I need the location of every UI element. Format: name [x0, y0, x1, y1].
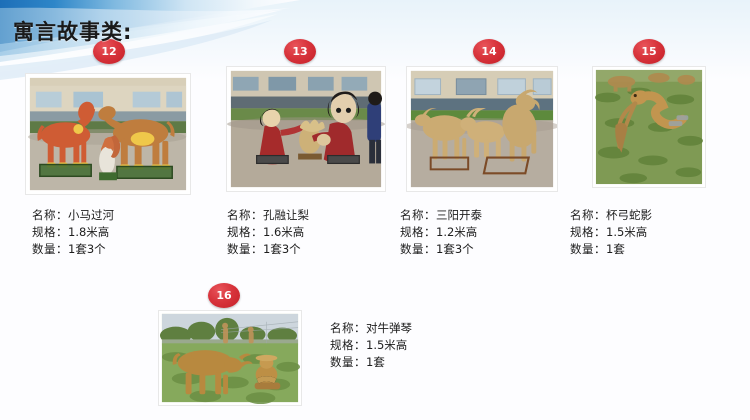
photo-13-graphic: [227, 67, 385, 191]
badge-item-14: 14: [473, 39, 505, 64]
spec-label-16: 规格：: [330, 338, 366, 352]
photo-14-graphic: [407, 67, 557, 191]
spec-label-14: 规格：: [400, 225, 436, 239]
spec-label-12: 规格：: [32, 225, 68, 239]
caption-qty-row-13: 数量：1套3个: [227, 241, 309, 258]
photo-item-14[interactable]: [406, 66, 558, 192]
name-value-16: 对牛弹琴: [366, 321, 412, 335]
caption-item-15: 名称：杯弓蛇影 规格：1.5米高 数量：1套: [570, 207, 652, 258]
caption-spec-row-14: 规格：1.2米高: [400, 224, 482, 241]
caption-spec-row-12: 规格：1.8米高: [32, 224, 114, 241]
photo-item-13[interactable]: [226, 66, 386, 192]
qty-value-12: 1套3个: [68, 242, 106, 256]
name-value-14: 三阳开泰: [436, 208, 482, 222]
qty-label-13: 数量：: [227, 242, 263, 256]
spec-value-16: 1.5米高: [366, 338, 407, 352]
qty-value-16: 1套: [366, 355, 385, 369]
name-value-15: 杯弓蛇影: [606, 208, 652, 222]
name-label-12: 名称：: [32, 208, 68, 222]
badge-item-16: 16: [208, 283, 240, 308]
name-value-12: 小马过河: [68, 208, 114, 222]
photo-item-12[interactable]: [25, 73, 191, 195]
qty-value-15: 1套: [606, 242, 625, 256]
qty-label-12: 数量：: [32, 242, 68, 256]
caption-spec-row-16: 规格：1.5米高: [330, 337, 412, 354]
page-title: 寓言故事类:: [13, 16, 132, 46]
caption-item-12: 名称：小马过河 规格：1.8米高 数量：1套3个: [32, 207, 114, 258]
badge-item-13: 13: [284, 39, 316, 64]
photo-16-graphic: [159, 311, 301, 405]
caption-name-row-15: 名称：杯弓蛇影: [570, 207, 652, 224]
caption-qty-row-15: 数量：1套: [570, 241, 652, 258]
spec-value-14: 1.2米高: [436, 225, 477, 239]
qty-label-15: 数量：: [570, 242, 606, 256]
spec-label-13: 规格：: [227, 225, 263, 239]
name-label-13: 名称：: [227, 208, 263, 222]
slide-canvas: 寓言故事类:: [0, 0, 750, 420]
name-label-15: 名称：: [570, 208, 606, 222]
caption-name-row-14: 名称：三阳开泰: [400, 207, 482, 224]
caption-name-row-16: 名称：对牛弹琴: [330, 320, 412, 337]
qty-value-13: 1套3个: [263, 242, 301, 256]
caption-name-row-13: 名称：孔融让梨: [227, 207, 309, 224]
photo-item-16[interactable]: [158, 310, 302, 406]
spec-label-15: 规格：: [570, 225, 606, 239]
qty-value-14: 1套3个: [436, 242, 474, 256]
caption-name-row-12: 名称：小马过河: [32, 207, 114, 224]
spec-value-15: 1.5米高: [606, 225, 647, 239]
name-label-16: 名称：: [330, 321, 366, 335]
photo-15-graphic: [593, 67, 705, 187]
name-value-13: 孔融让梨: [263, 208, 309, 222]
caption-qty-row-16: 数量：1套: [330, 354, 412, 371]
spec-value-12: 1.8米高: [68, 225, 109, 239]
caption-item-16: 名称：对牛弹琴 规格：1.5米高 数量：1套: [330, 320, 412, 371]
photo-12-graphic: [26, 74, 190, 194]
caption-spec-row-13: 规格：1.6米高: [227, 224, 309, 241]
photo-item-15[interactable]: [592, 66, 706, 188]
qty-label-16: 数量：: [330, 355, 366, 369]
spec-value-13: 1.6米高: [263, 225, 304, 239]
caption-spec-row-15: 规格：1.5米高: [570, 224, 652, 241]
qty-label-14: 数量：: [400, 242, 436, 256]
badge-item-15: 15: [633, 39, 665, 64]
name-label-14: 名称：: [400, 208, 436, 222]
caption-item-13: 名称：孔融让梨 规格：1.6米高 数量：1套3个: [227, 207, 309, 258]
caption-item-14: 名称：三阳开泰 规格：1.2米高 数量：1套3个: [400, 207, 482, 258]
caption-qty-row-12: 数量：1套3个: [32, 241, 114, 258]
caption-qty-row-14: 数量：1套3个: [400, 241, 482, 258]
